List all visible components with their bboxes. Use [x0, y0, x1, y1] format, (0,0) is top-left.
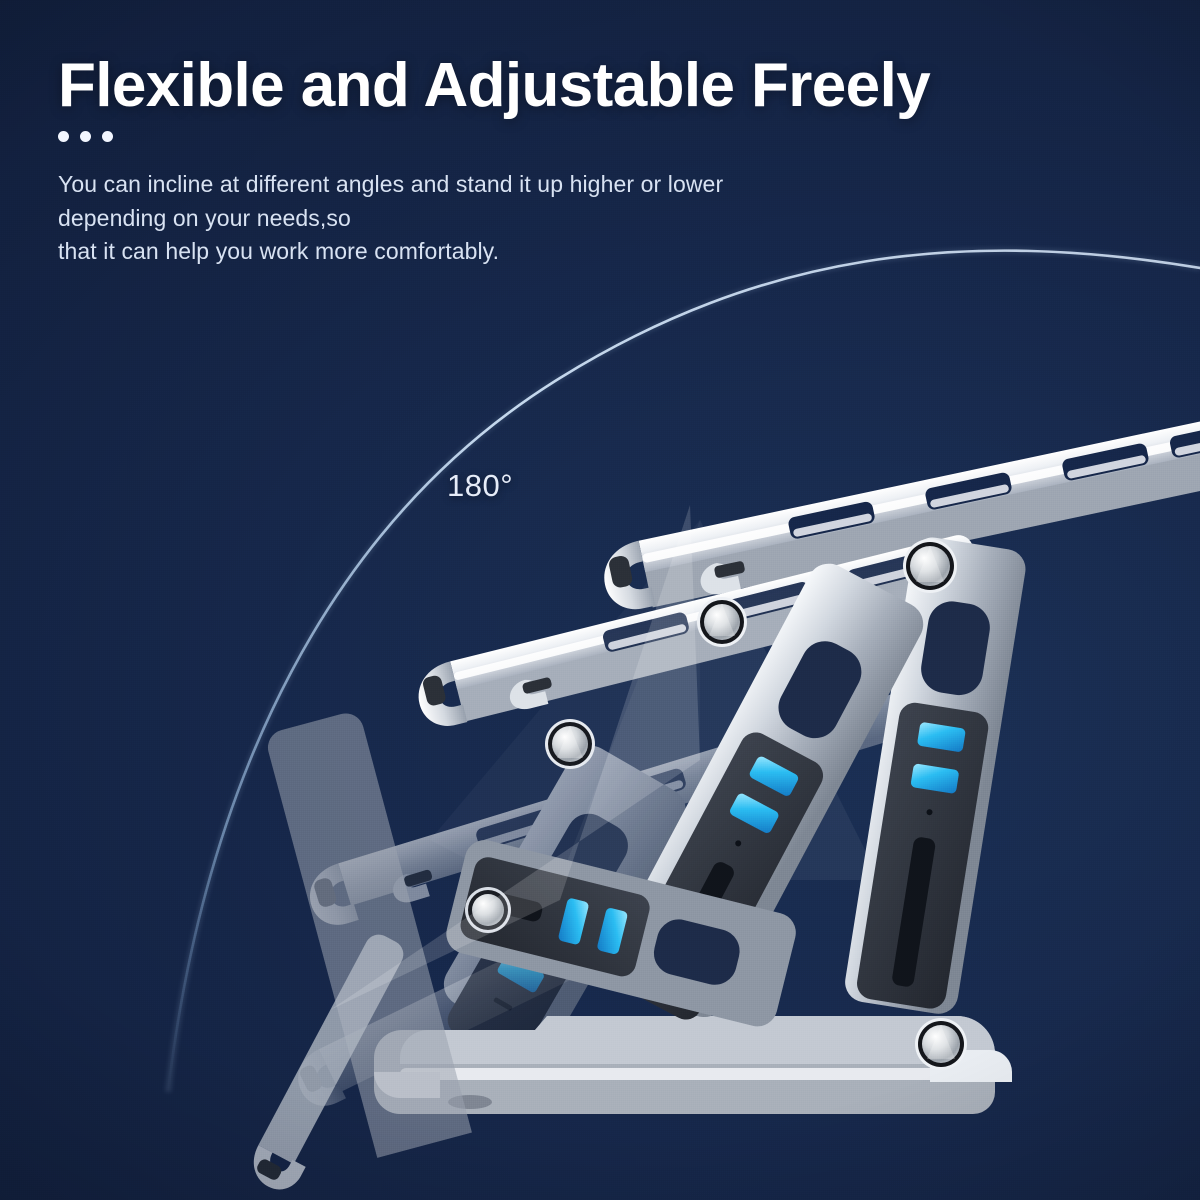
hinge-pivot	[903, 539, 957, 593]
hinge-pivot	[545, 719, 595, 769]
ellipsis-dots	[58, 131, 1058, 142]
dot	[80, 131, 91, 142]
angle-label: 180°	[447, 468, 513, 504]
page-title: Flexible and Adjustable Freely	[58, 54, 1058, 117]
description-line-2: depending on your needs,so	[58, 202, 1058, 235]
hinge-pivot	[915, 1018, 967, 1070]
dot	[58, 131, 69, 142]
description-line-3: that it can help you work more comfortab…	[58, 235, 1058, 268]
base-plate	[374, 1016, 1012, 1114]
marketing-banner: Flexible and Adjustable Freely You can i…	[0, 0, 1200, 1200]
dot	[102, 131, 113, 142]
header-block: Flexible and Adjustable Freely You can i…	[58, 54, 1058, 268]
description-line-1: You can incline at different angles and …	[58, 168, 1058, 201]
description-text: You can incline at different angles and …	[58, 168, 1058, 268]
hinge-pivot	[697, 597, 747, 647]
